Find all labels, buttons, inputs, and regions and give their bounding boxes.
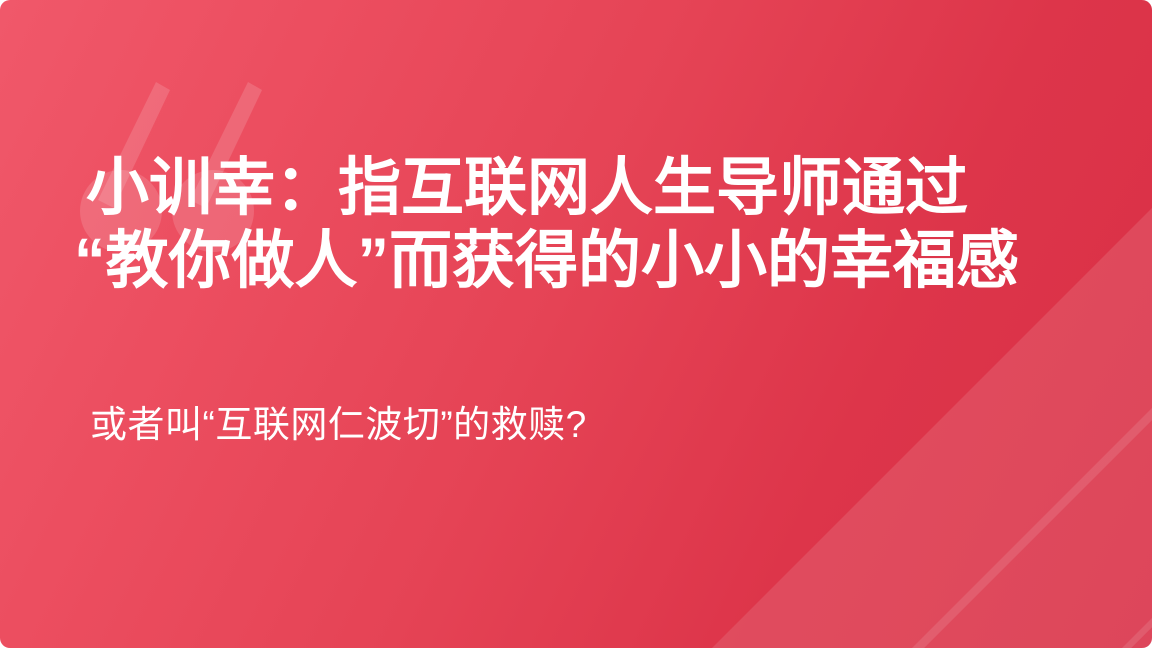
slide-content: 小训幸：指互联网人生导师通过 “教你做人”而获得的小小的幸福感 或者叫“互联网仁… xyxy=(0,0,1152,648)
page-title: 小训幸：指互联网人生导师通过 “教你做人”而获得的小小的幸福感 xyxy=(72,152,1112,298)
page-subtitle: 或者叫“互联网仁波切”的救赎? xyxy=(90,400,587,450)
title-line-1: 小训幸：指互联网人生导师通过 xyxy=(72,152,1112,225)
quote-slide: 小训幸：指互联网人生导师通过 “教你做人”而获得的小小的幸福感 或者叫“互联网仁… xyxy=(0,0,1152,648)
title-line-2: “教你做人”而获得的小小的幸福感 xyxy=(72,225,1112,298)
